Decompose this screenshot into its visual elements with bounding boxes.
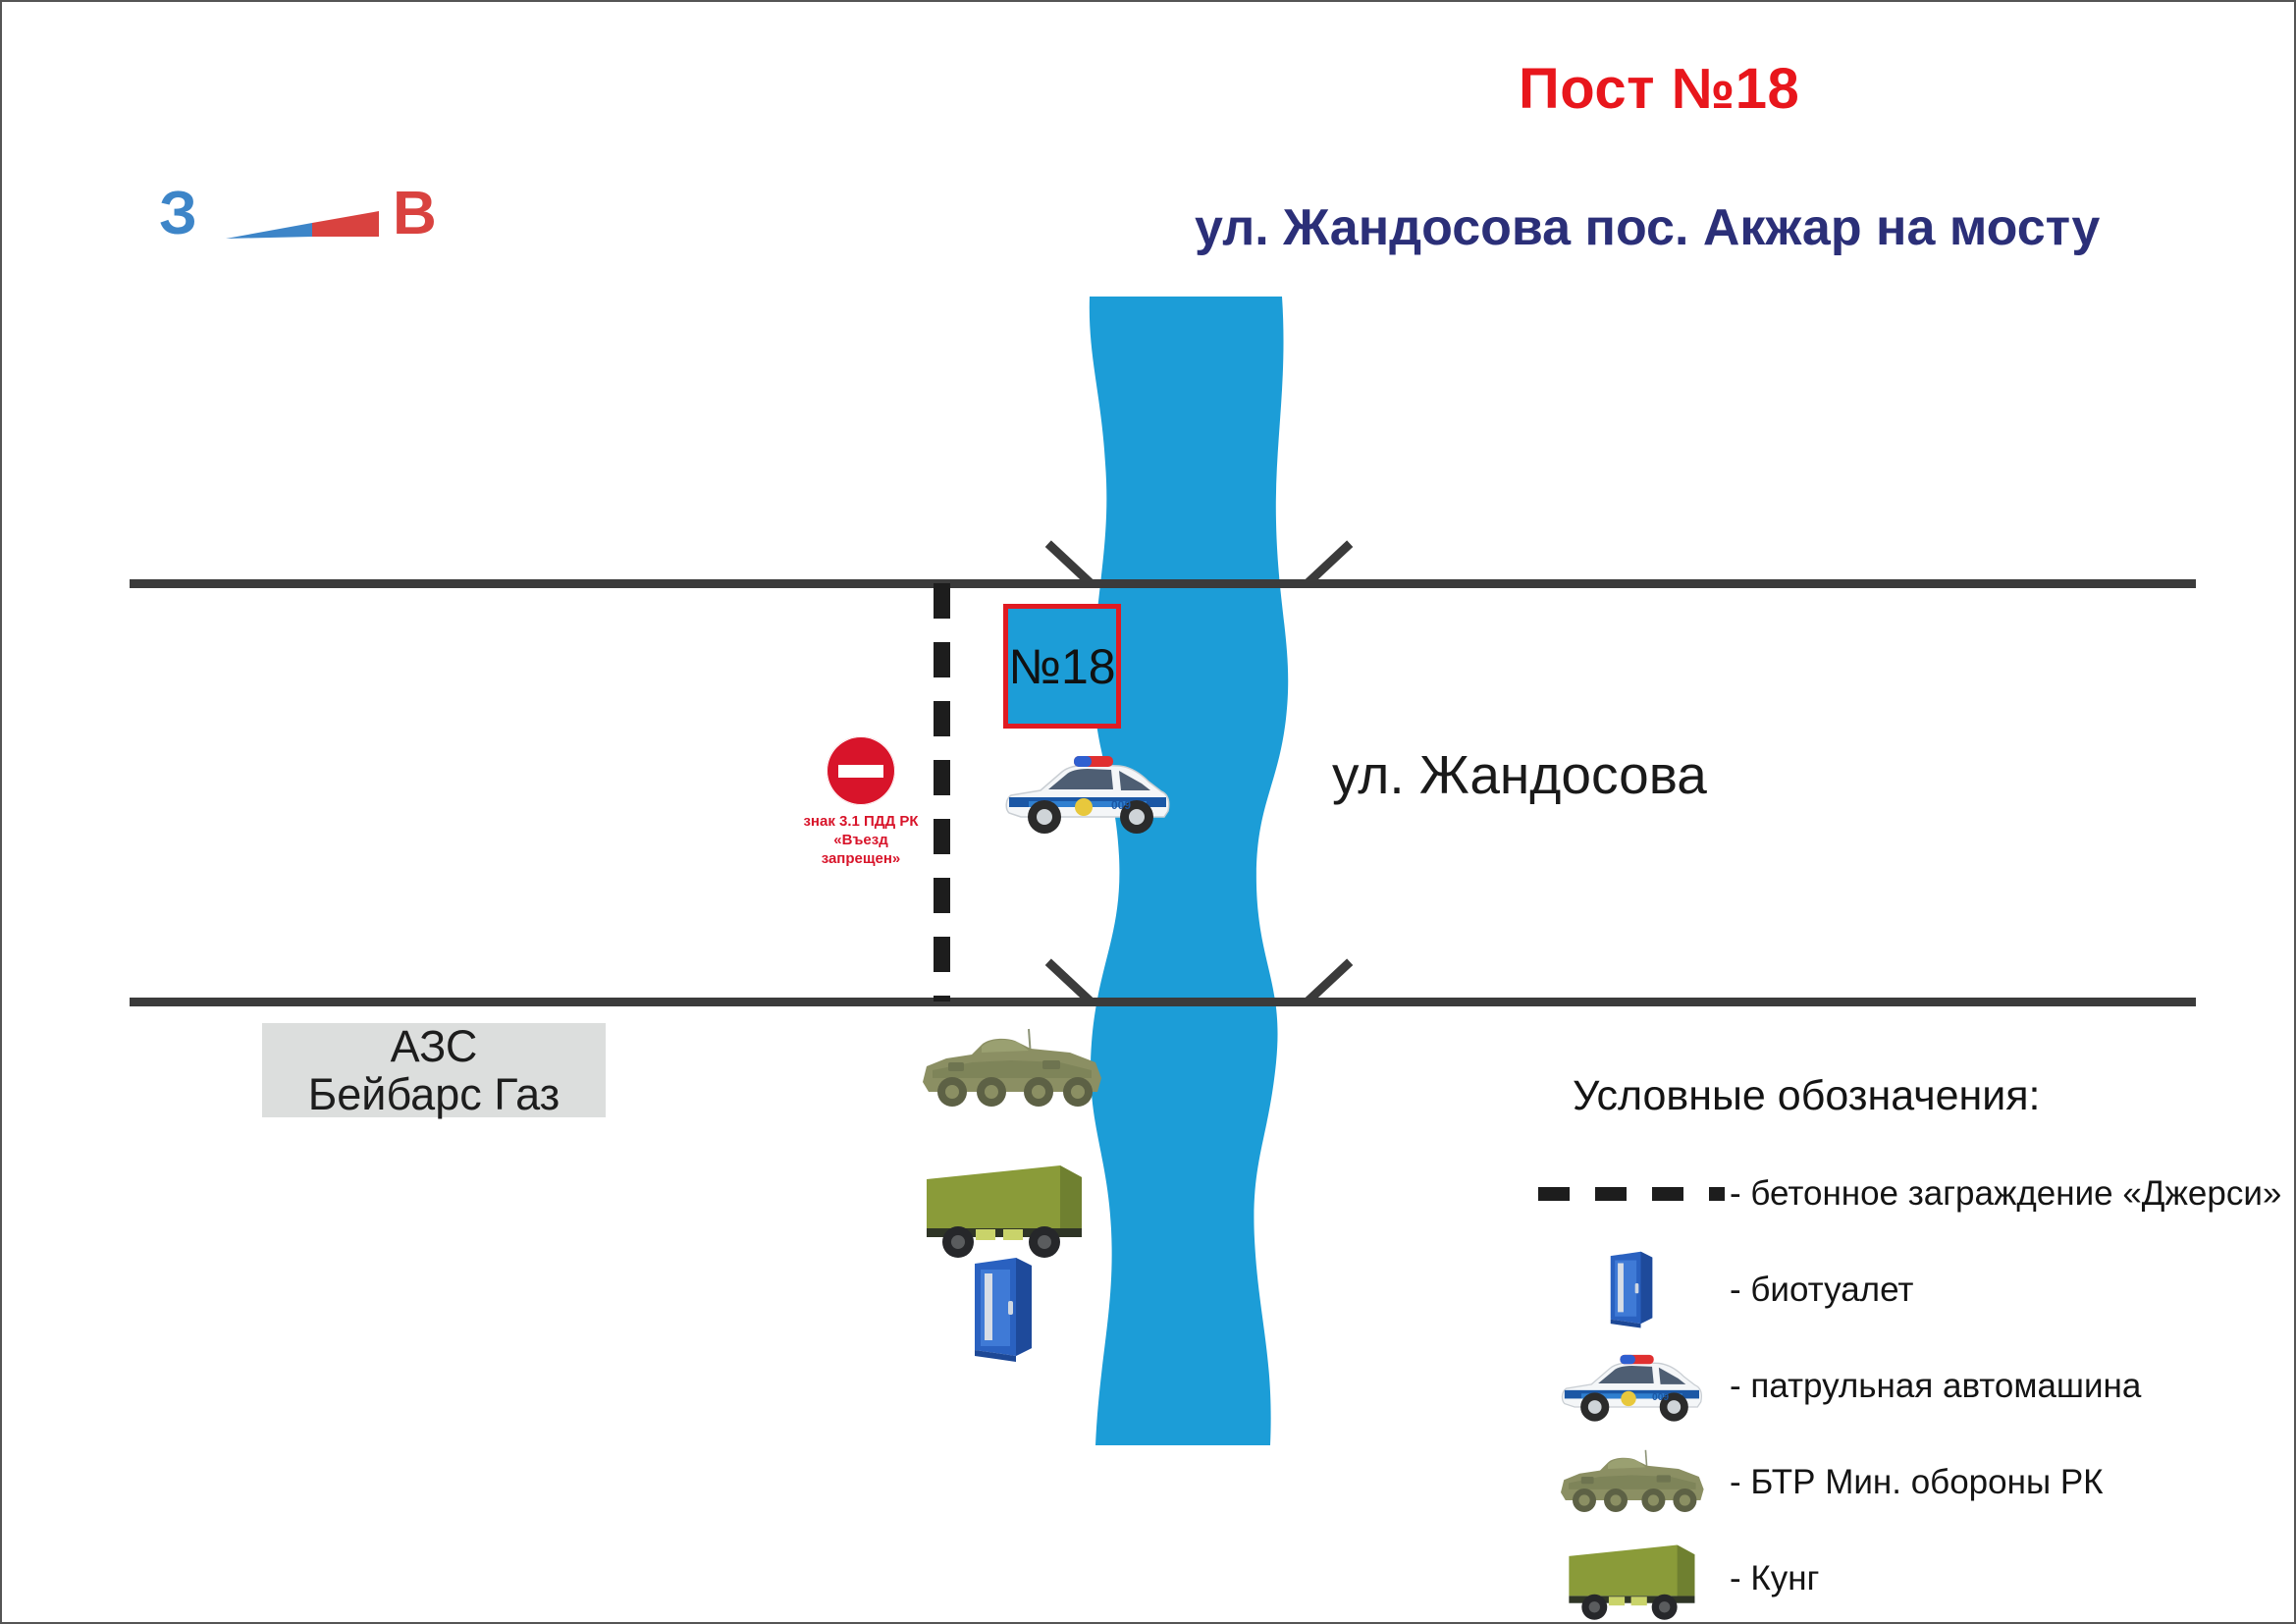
azs-line1: АЗС	[391, 1022, 478, 1071]
jersey-barrier-line	[934, 583, 950, 1001]
kung-icon	[913, 1156, 1095, 1264]
svg-text:009: 009	[1652, 1392, 1669, 1403]
dashed-line-symbol	[1533, 1187, 1730, 1201]
legend-label-bio-toilet: - биотуалет	[1730, 1271, 1913, 1310]
post-18-scheme-page: Пост №18 ул. Жандосова пос. Акжар на мос…	[0, 0, 2296, 1624]
legend-item-btr: - БТР Мин. обороны РК	[1533, 1435, 2260, 1531]
legend-label-btr: - БТР Мин. обороны РК	[1730, 1463, 2104, 1502]
compass-rose: З В	[159, 184, 454, 267]
no-entry-sign-icon	[827, 736, 895, 805]
no-entry-bar	[838, 765, 883, 778]
compass-east-label: В	[393, 184, 437, 244]
btr-icon	[1533, 1445, 1730, 1520]
post-18-box: №18	[1003, 604, 1121, 729]
post-18-box-label: №18	[1008, 642, 1115, 691]
legend-item-jersey-barrier: - бетонное заграждение «Джерси»	[1533, 1146, 2260, 1242]
no-entry-caption: знак 3.1 ПДД РК «Въезд запрещен»	[797, 813, 925, 868]
no-entry-sign-group: знак 3.1 ПДД РК «Въезд запрещен»	[797, 736, 925, 868]
btr-icon	[913, 1023, 1109, 1121]
page-title: Пост №18	[1519, 56, 1799, 122]
legend-label-jersey-barrier: - бетонное заграждение «Джерси»	[1730, 1174, 2281, 1214]
kung-icon	[1533, 1537, 1730, 1621]
legend-panel: Условные обозначения: - бетонное загражд…	[1533, 1072, 2260, 1624]
bio-toilet-icon	[1533, 1248, 1730, 1332]
dashed-line-swatch	[1538, 1187, 1725, 1201]
legend-title: Условные обозначения:	[1573, 1072, 2260, 1120]
legend-label-patrol-car: - патрульная автомашина	[1730, 1367, 2141, 1406]
compass-needle-icon	[226, 201, 385, 252]
legend-item-kung: - Кунг	[1533, 1531, 2260, 1624]
no-entry-caption-line1: знак 3.1 ПДД РК	[797, 813, 925, 832]
road-line-bottom	[130, 998, 2196, 1006]
no-entry-caption-line2: «Въезд запрещен»	[797, 832, 925, 869]
bio-toilet-icon	[959, 1254, 1047, 1372]
compass-west-label: З	[159, 184, 197, 244]
patrol-car-icon: 009	[1533, 1346, 1730, 1427]
patrol-car-icon: 009	[1001, 746, 1173, 844]
azs-line2: Бейбарс Газ	[308, 1070, 561, 1119]
road-line-top	[130, 579, 2196, 588]
legend-label-kung: - Кунг	[1730, 1559, 1819, 1598]
legend-item-bio-toilet: - биотуалет	[1533, 1242, 2260, 1338]
svg-text:009: 009	[1111, 798, 1131, 812]
river-aksai: Ақсай өзені	[1082, 297, 1298, 1445]
street-label-zhandosova: ул. Жандосова	[1332, 743, 1707, 806]
street-subtitle: ул. Жандосова пос. Акжар на мосту	[1195, 198, 2100, 257]
azs-beibars-gaz-box: АЗС Бейбарс Газ	[262, 1023, 606, 1117]
legend-item-patrol-car: 009 - патрульная автомашина	[1533, 1338, 2260, 1435]
